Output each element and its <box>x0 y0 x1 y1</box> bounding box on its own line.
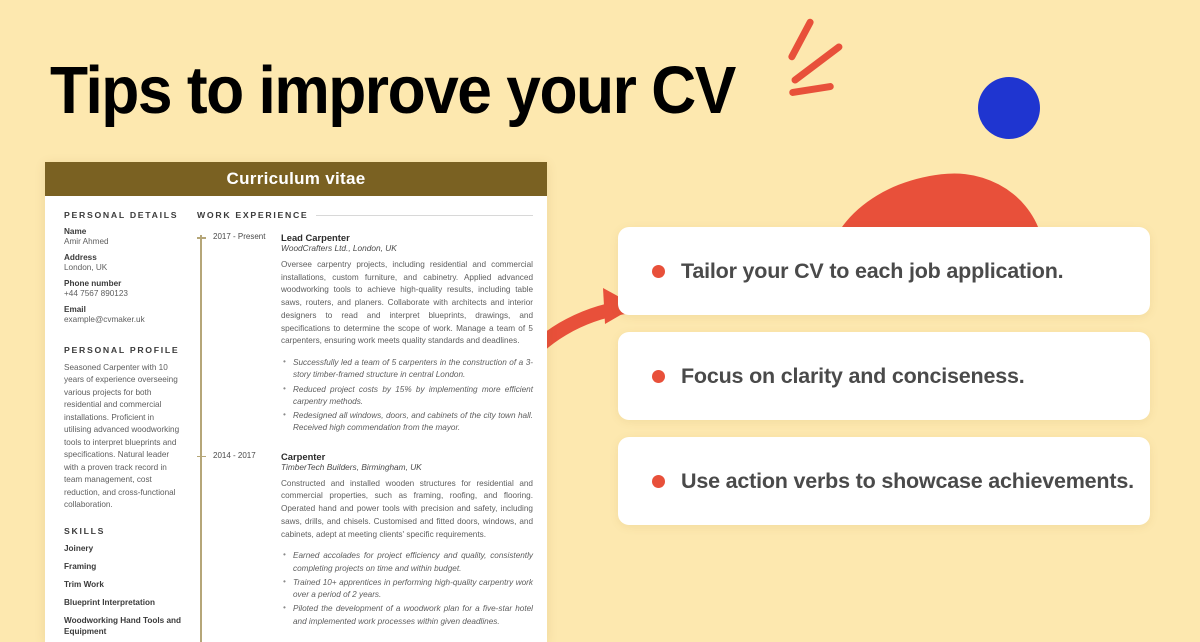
cv-right-column: WORK EXPERIENCE 2017 - Present Lead Carp… <box>197 210 547 642</box>
job-date-column: 2014 - 2017 <box>197 451 281 630</box>
job-entry: 2014 - 2017 Carpenter TimberTech Builder… <box>197 451 533 630</box>
job-company: TimberTech Builders, Birmingham, UK <box>281 462 533 472</box>
skill-item: Trim Work <box>64 579 183 590</box>
timeline-tick-icon <box>197 456 206 458</box>
field-value: +44 7567 890123 <box>64 289 183 298</box>
job-achievement: Earned accolades for project efficiency … <box>281 550 533 575</box>
field-label: Name <box>64 227 183 236</box>
spacer <box>64 512 183 526</box>
spark-line-2 <box>790 42 844 85</box>
blue-circle-decoration <box>978 77 1040 139</box>
field-label: Address <box>64 253 183 262</box>
job-description: Oversee carpentry projects, including re… <box>281 259 533 348</box>
tip-text: Focus on clarity and conciseness. <box>681 364 1025 389</box>
personal-profile-text: Seasoned Carpenter with 10 years of expe… <box>64 362 183 512</box>
bullet-dot-icon <box>652 475 665 488</box>
section-heading-personal-details: PERSONAL DETAILS <box>64 210 183 220</box>
cv-body: PERSONAL DETAILS Name Amir Ahmed Address… <box>45 196 547 642</box>
cv-header-bar: Curriculum vitae <box>45 162 547 196</box>
tips-list: Tailor your CV to each job application. … <box>618 227 1150 542</box>
spark-line-3 <box>789 83 835 97</box>
tip-card-3[interactable]: Use action verbs to showcase achievement… <box>618 437 1150 525</box>
job-achievements-list: Earned accolades for project efficiency … <box>281 550 533 628</box>
work-experience-timeline: 2017 - Present Lead Carpenter WoodCrafte… <box>197 232 533 630</box>
spacer <box>64 331 183 345</box>
cv-left-column: PERSONAL DETAILS Name Amir Ahmed Address… <box>45 210 197 642</box>
field-label: Email <box>64 305 183 314</box>
job-achievements-list: Successfully led a team of 5 carpenters … <box>281 357 533 435</box>
job-title: Carpenter <box>281 451 533 462</box>
job-details: Carpenter TimberTech Builders, Birmingha… <box>281 451 533 630</box>
field-address: Address London, UK <box>64 253 183 272</box>
tip-text: Tailor your CV to each job application. <box>681 259 1063 284</box>
tip-card-1[interactable]: Tailor your CV to each job application. <box>618 227 1150 315</box>
cv-header-title: Curriculum vitae <box>227 169 366 189</box>
field-name: Name Amir Ahmed <box>64 227 183 246</box>
job-description: Constructed and installed wooden structu… <box>281 478 533 542</box>
skill-item: Joinery <box>64 543 183 554</box>
field-value: London, UK <box>64 263 183 272</box>
job-date: 2014 - 2017 <box>200 451 281 460</box>
job-company: WoodCrafters Ltd., London, UK <box>281 243 533 253</box>
job-details: Lead Carpenter WoodCrafters Ltd., London… <box>281 232 533 437</box>
skill-item: Woodworking Hand Tools and Equipment <box>64 615 183 637</box>
bullet-dot-icon <box>652 265 665 278</box>
spark-marks-decoration <box>770 8 880 103</box>
job-achievement: Reduced project costs by 15% by implemen… <box>281 384 533 409</box>
job-date-column: 2017 - Present <box>197 232 281 437</box>
heading-rule <box>316 215 533 216</box>
job-achievement: Successfully led a team of 5 carpenters … <box>281 357 533 382</box>
job-achievement: Redesigned all windows, doors, and cabin… <box>281 410 533 435</box>
tip-text: Use action verbs to showcase achievement… <box>681 469 1134 494</box>
skill-item: Blueprint Interpretation <box>64 597 183 608</box>
timeline-tick-icon <box>197 237 206 239</box>
job-entry: 2017 - Present Lead Carpenter WoodCrafte… <box>197 232 533 437</box>
job-achievement: Trained 10+ apprentices in performing hi… <box>281 577 533 602</box>
field-value: example@cvmaker.uk <box>64 315 183 324</box>
skill-item: Framing <box>64 561 183 572</box>
tip-card-2[interactable]: Focus on clarity and conciseness. <box>618 332 1150 420</box>
page-title: Tips to improve your CV <box>50 52 735 129</box>
job-achievement: Piloted the development of a woodwork pl… <box>281 603 533 628</box>
section-heading-work-experience: WORK EXPERIENCE <box>197 210 308 220</box>
field-email: Email example@cvmaker.uk <box>64 305 183 324</box>
field-phone-number: Phone number +44 7567 890123 <box>64 279 183 298</box>
section-heading-personal-profile: PERSONAL PROFILE <box>64 345 183 355</box>
job-date: 2017 - Present <box>200 232 281 241</box>
work-experience-heading-row: WORK EXPERIENCE <box>197 210 533 220</box>
bullet-dot-icon <box>652 370 665 383</box>
field-value: Amir Ahmed <box>64 237 183 246</box>
cv-document-preview[interactable]: Curriculum vitae PERSONAL DETAILS Name A… <box>45 162 547 642</box>
field-label: Phone number <box>64 279 183 288</box>
spark-line-1 <box>787 18 815 62</box>
section-heading-skills: SKILLS <box>64 526 183 536</box>
job-title: Lead Carpenter <box>281 232 533 243</box>
